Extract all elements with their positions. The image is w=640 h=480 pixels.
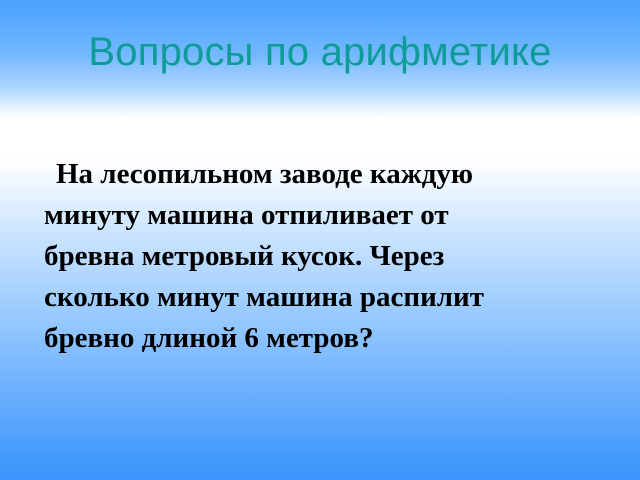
slide-canvas: Вопросы по арифметике На лесопильном зав… (0, 0, 640, 480)
body-placeholder: На лесопильном заводе каждую минуту маши… (44, 154, 596, 359)
problem-text-line: На лесопильном заводе каждую (44, 154, 596, 195)
page-title: Вопросы по арифметике (0, 28, 640, 76)
problem-text-line: бревно длиной 6 метров? (44, 318, 596, 359)
title-placeholder: Вопросы по арифметике (0, 28, 640, 76)
problem-text-line: сколько минут машина распилит (44, 277, 596, 318)
problem-text: На лесопильном заводе каждую минуту маши… (44, 154, 596, 359)
problem-text-line: минуту машина отпиливает от (44, 195, 596, 236)
problem-text-line: бревна метровый кусок. Через (44, 236, 596, 277)
